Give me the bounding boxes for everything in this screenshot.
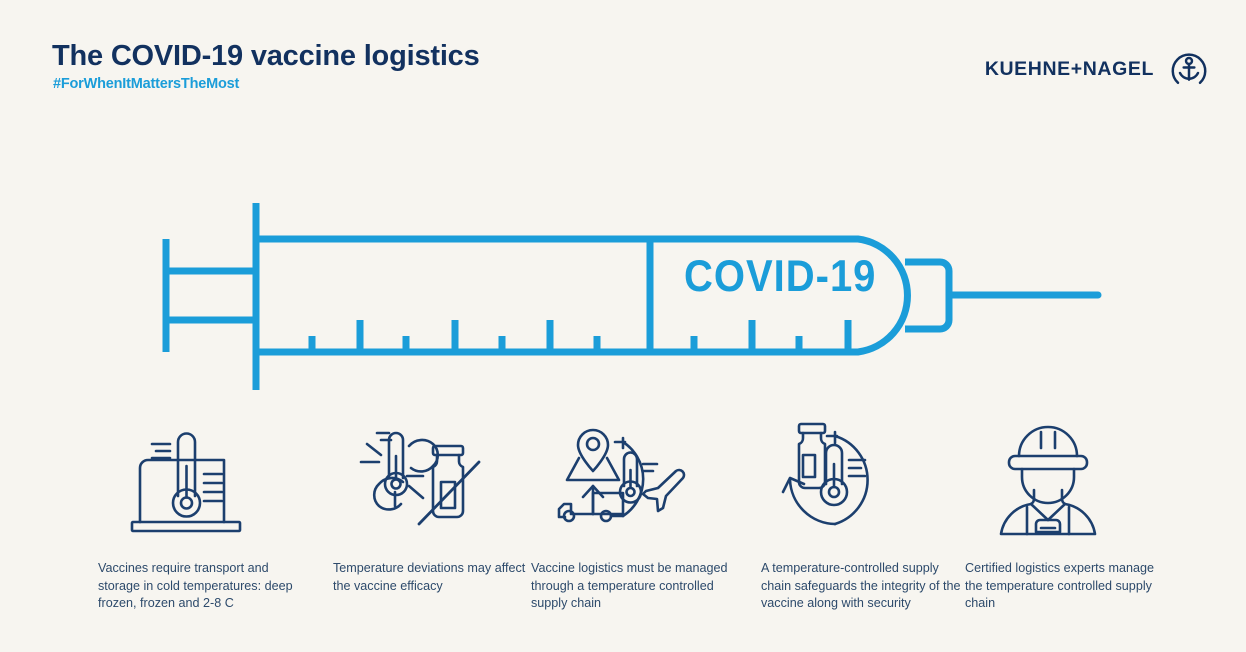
feature-caption: A temperature-controlled supply chain sa… [761,560,969,613]
feature-caption: Vaccines require transport and storage i… [98,560,306,613]
feature-item: A temperature-controlled supply chain sa… [761,418,969,613]
syringe-icon: COVID-19 [0,0,1246,440]
thermometer-heat-crossed-vial-icon [333,418,541,536]
feature-item: Certified logistics experts manage the t… [965,418,1173,613]
feature-caption: Certified logistics experts manage the t… [965,560,1173,613]
feature-caption: Temperature deviations may affect the va… [333,560,541,595]
feature-caption: Vaccine logistics must be managed throug… [531,560,739,613]
feature-item: Vaccines require transport and storage i… [98,418,306,613]
vial-thermometer-cycle-icon [761,418,969,536]
map-pin-truck-plane-thermometer-icon [531,418,739,536]
feature-item: Temperature deviations may affect the va… [333,418,541,595]
laptop-thermometer-icon [98,418,306,536]
feature-item: Vaccine logistics must be managed throug… [531,418,739,613]
feature-list: Vaccines require transport and storage i… [0,418,1246,648]
syringe-label: COVID-19 [684,251,876,301]
infographic-canvas: The COVID-19 vaccine logistics #ForWhenI… [0,0,1246,652]
worker-hardhat-icon [965,418,1173,536]
